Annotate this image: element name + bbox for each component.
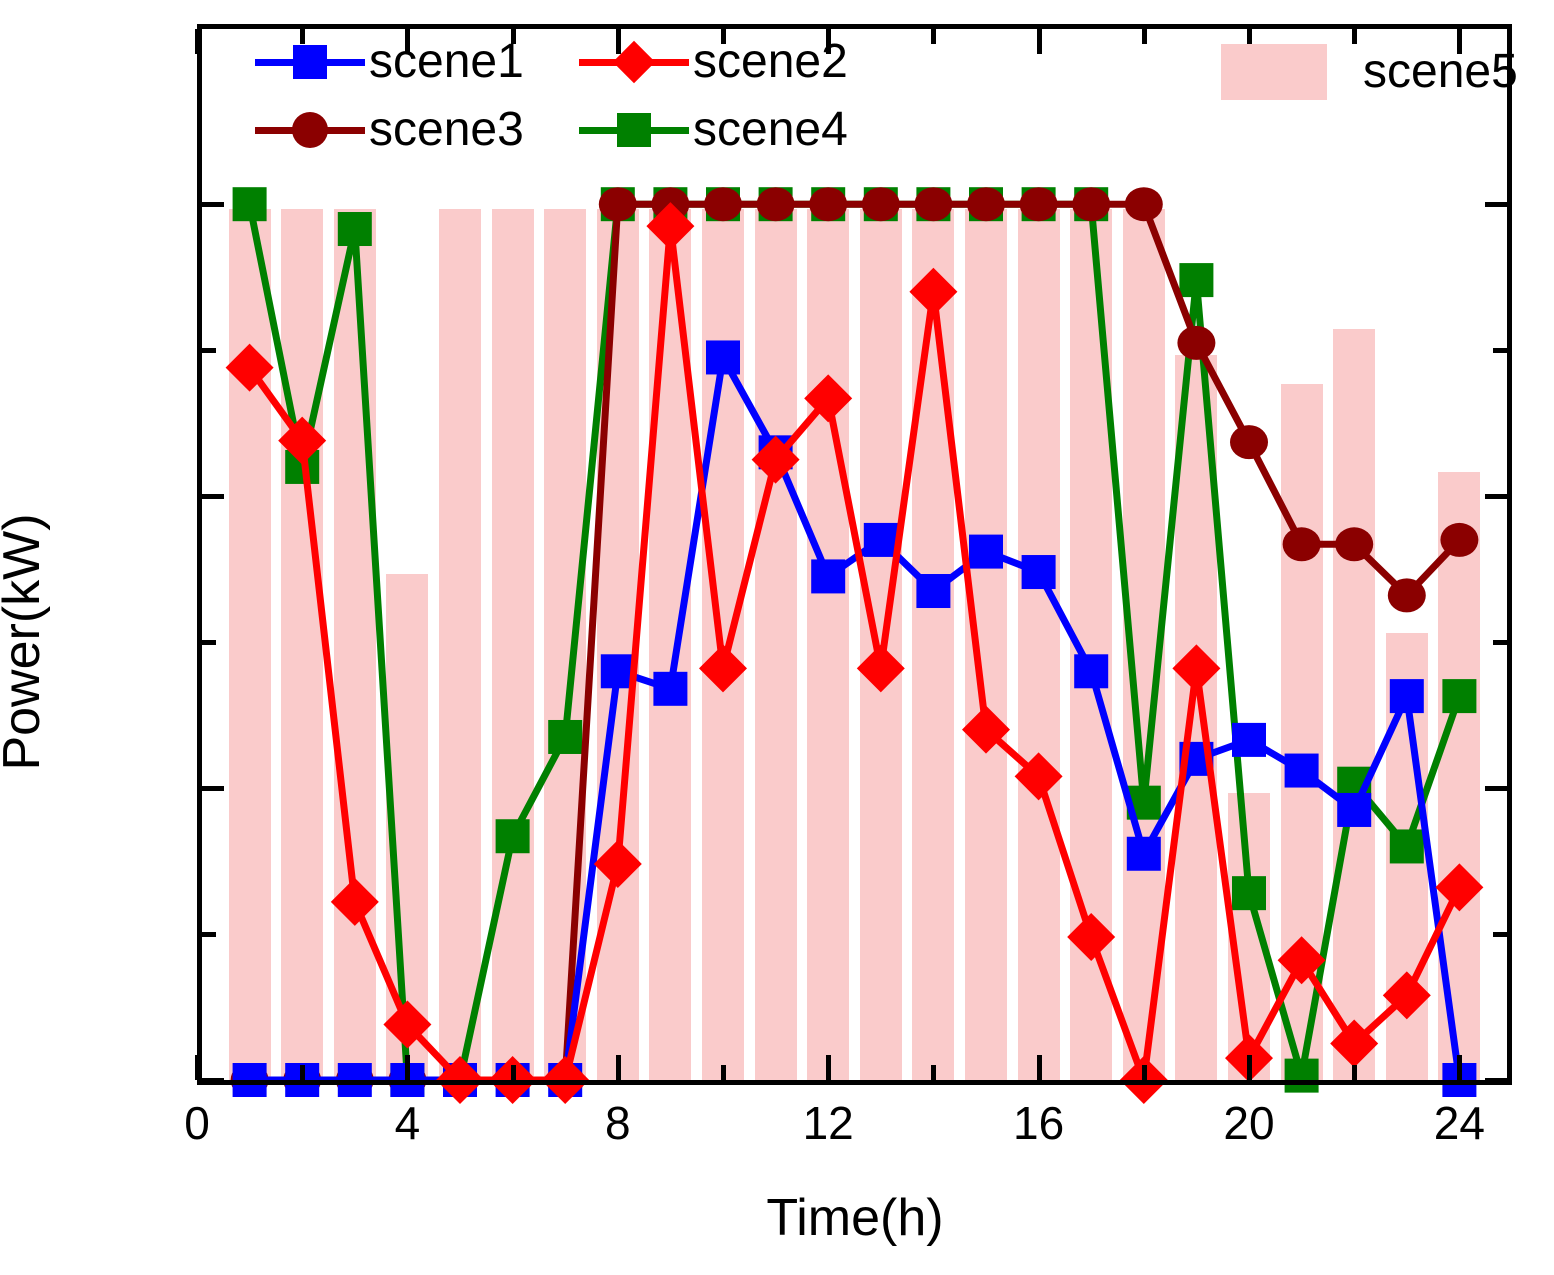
legend-label-scene3: scene3: [369, 106, 524, 154]
x-tick-major-top: [195, 29, 200, 54]
y-tick-major: [202, 494, 224, 499]
circle-marker-icon: [1283, 527, 1321, 561]
x-tick-major: [405, 1055, 410, 1080]
diamond-marker-icon: [594, 840, 642, 888]
legend-line-scene4: [579, 127, 689, 134]
x-axis-title: Time(h): [766, 1188, 943, 1248]
series-line-scene4: [250, 204, 1460, 1080]
circle-marker-icon: [1440, 523, 1478, 557]
x-tick-major: [616, 1055, 621, 1080]
legend-label-scene5: scene5: [1363, 48, 1518, 96]
square-marker-icon: [1337, 793, 1371, 827]
series-line-scene1: [250, 357, 1460, 1080]
x-tick-label: 4: [395, 1096, 421, 1150]
y-tick-major-right: [1485, 1078, 1507, 1083]
square-marker-icon: [293, 45, 327, 79]
x-tick-minor: [1352, 1065, 1357, 1080]
square-marker-icon: [548, 720, 582, 754]
legend-entry-scene4: scene4: [579, 106, 848, 154]
x-tick-label: 16: [1013, 1096, 1064, 1150]
x-tick-label: 20: [1223, 1096, 1274, 1150]
square-marker-icon: [969, 535, 1003, 569]
circle-marker-icon: [1072, 187, 1110, 221]
y-tick-major-right: [1485, 202, 1507, 207]
y-tick-minor-right: [1493, 640, 1507, 645]
legend-entry-scene3: scene3: [255, 106, 524, 154]
diamond-marker-icon: [226, 344, 274, 392]
square-marker-icon: [338, 212, 372, 246]
circle-marker-icon: [1335, 527, 1373, 561]
series-line-scene2: [250, 226, 1460, 1080]
legend-label-scene1: scene1: [369, 38, 524, 86]
diamond-marker-icon: [1067, 913, 1115, 961]
x-tick-major: [826, 1055, 831, 1080]
circle-marker-icon: [1388, 578, 1426, 612]
diamond-marker-icon: [909, 268, 957, 316]
x-tick-label: 8: [605, 1096, 631, 1150]
y-tick-minor: [202, 932, 216, 937]
diamond-marker-icon: [699, 644, 747, 692]
square-marker-icon: [1127, 837, 1161, 871]
series-line-scene3: [250, 204, 1460, 1080]
top-axis-line: [197, 24, 1512, 29]
diamond-marker-icon: [1435, 863, 1483, 911]
y-tick-major: [202, 202, 224, 207]
square-marker-icon: [864, 523, 898, 557]
square-marker-icon: [1390, 829, 1424, 863]
right-axis-line: [1507, 24, 1512, 1085]
y-tick-minor-right: [1493, 932, 1507, 937]
legend-label-scene2: scene2: [693, 38, 848, 86]
plot-area: 0200400600 04812162024 scene1 scene2 sc: [197, 24, 1512, 1085]
circle-marker-icon: [292, 112, 328, 148]
x-tick-major: [195, 1055, 200, 1080]
y-tick-minor: [202, 348, 216, 353]
diamond-marker-icon: [1172, 644, 1220, 692]
diamond-marker-icon: [857, 644, 905, 692]
square-marker-icon: [1232, 723, 1266, 757]
square-marker-icon: [1179, 263, 1213, 297]
square-marker-icon: [811, 559, 845, 593]
circle-marker-icon: [914, 187, 952, 221]
x-tick-label: 12: [803, 1096, 854, 1150]
y-tick-major-right: [1485, 786, 1507, 791]
circle-marker-icon: [1177, 326, 1215, 360]
chart-root: 0200400600 04812162024 scene1 scene2 sc: [0, 0, 1554, 1275]
square-marker-icon: [233, 187, 267, 221]
legend-entry-scene5: scene5: [1221, 44, 1518, 100]
legend-entry-scene1: scene1: [255, 38, 524, 86]
x-tick-minor: [511, 1065, 516, 1080]
y-axis-line: [197, 24, 202, 1085]
x-tick-major: [1247, 1055, 1252, 1080]
legend-entry-scene2: scene2: [579, 38, 848, 86]
x-axis-line: [197, 1080, 1512, 1085]
x-tick-label: 24: [1434, 1096, 1485, 1150]
square-marker-icon: [496, 819, 530, 853]
square-marker-icon: [653, 672, 687, 706]
y-tick-minor: [202, 640, 216, 645]
square-marker-icon: [1232, 876, 1266, 910]
circle-marker-icon: [862, 187, 900, 221]
y-tick-major: [202, 1078, 224, 1083]
circle-marker-icon: [1020, 187, 1058, 221]
y-tick-major: [202, 786, 224, 791]
legend-label-scene4: scene4: [693, 106, 848, 154]
circle-marker-icon: [809, 187, 847, 221]
x-tick-major: [1037, 1055, 1042, 1080]
legend-line-scene3: [255, 127, 365, 134]
circle-marker-icon: [1125, 187, 1163, 221]
square-marker-icon: [1285, 1059, 1319, 1093]
x-tick-minor: [1142, 1065, 1147, 1080]
square-marker-icon: [1022, 555, 1056, 589]
square-marker-icon: [1074, 654, 1108, 688]
bar-swatch-icon: [1221, 44, 1327, 100]
circle-marker-icon: [1230, 425, 1268, 459]
y-tick-major-right: [1485, 494, 1507, 499]
square-marker-icon: [1285, 754, 1319, 788]
y-axis-title: Power(kW): [0, 513, 52, 770]
x-tick-minor: [721, 1065, 726, 1080]
x-tick-minor: [931, 1065, 936, 1080]
square-marker-icon: [617, 113, 651, 147]
diamond-marker-icon: [613, 41, 655, 83]
diamond-marker-icon: [331, 878, 379, 926]
line-series-layer: [197, 24, 1512, 1085]
square-marker-icon: [1442, 679, 1476, 713]
square-marker-icon: [706, 340, 740, 374]
x-tick-minor: [300, 1065, 305, 1080]
circle-marker-icon: [599, 187, 637, 221]
legend-line-scene1: [255, 59, 365, 66]
chart-legend: scene1 scene2 scene3 scene4: [211, 34, 1501, 160]
y-tick-minor-right: [1493, 348, 1507, 353]
legend-line-scene2: [579, 59, 689, 66]
circle-marker-icon: [967, 187, 1005, 221]
square-marker-icon: [916, 574, 950, 608]
x-tick-major: [1457, 1055, 1462, 1080]
circle-marker-icon: [757, 187, 795, 221]
x-tick-label: 0: [184, 1096, 210, 1150]
series-scene2: [226, 202, 1484, 1104]
circle-marker-icon: [704, 187, 742, 221]
square-marker-icon: [1390, 679, 1424, 713]
